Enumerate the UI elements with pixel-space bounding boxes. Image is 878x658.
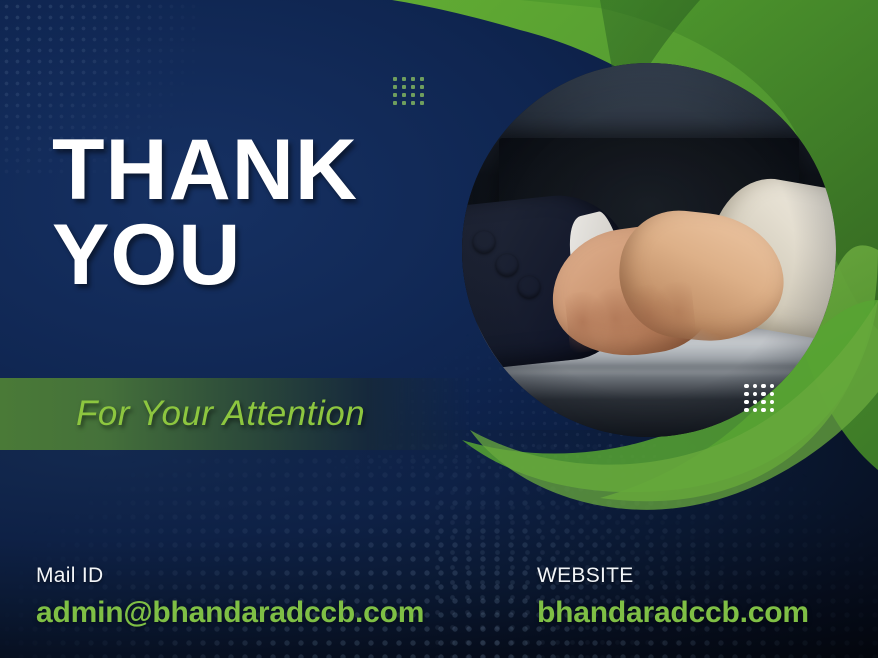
contact-mail-label: Mail ID <box>36 564 424 588</box>
contact-website-value[interactable]: bhandaradccb.com <box>537 596 809 630</box>
contact-mail-value[interactable]: admin@bhandaradccb.com <box>36 596 424 630</box>
photo-content <box>462 63 836 437</box>
contact-mail: Mail ID admin@bhandaradccb.com <box>36 564 424 630</box>
subtitle: For Your Attention <box>76 394 365 434</box>
photo-vignette <box>462 63 836 437</box>
dot-grid-top-icon <box>390 75 426 107</box>
contact-website-label: WEBSITE <box>537 564 809 588</box>
handshake-photo <box>462 63 836 437</box>
page-title: THANK YOU <box>52 128 358 298</box>
contact-website: WEBSITE bhandaradccb.com <box>537 564 809 630</box>
dot-grid-circle-icon <box>742 382 776 414</box>
thank-you-slide: THANK YOU For Your Attention Mail ID adm… <box>0 0 878 658</box>
headline-line-1: THANK <box>52 122 358 218</box>
headline-line-2: YOU <box>52 213 358 298</box>
